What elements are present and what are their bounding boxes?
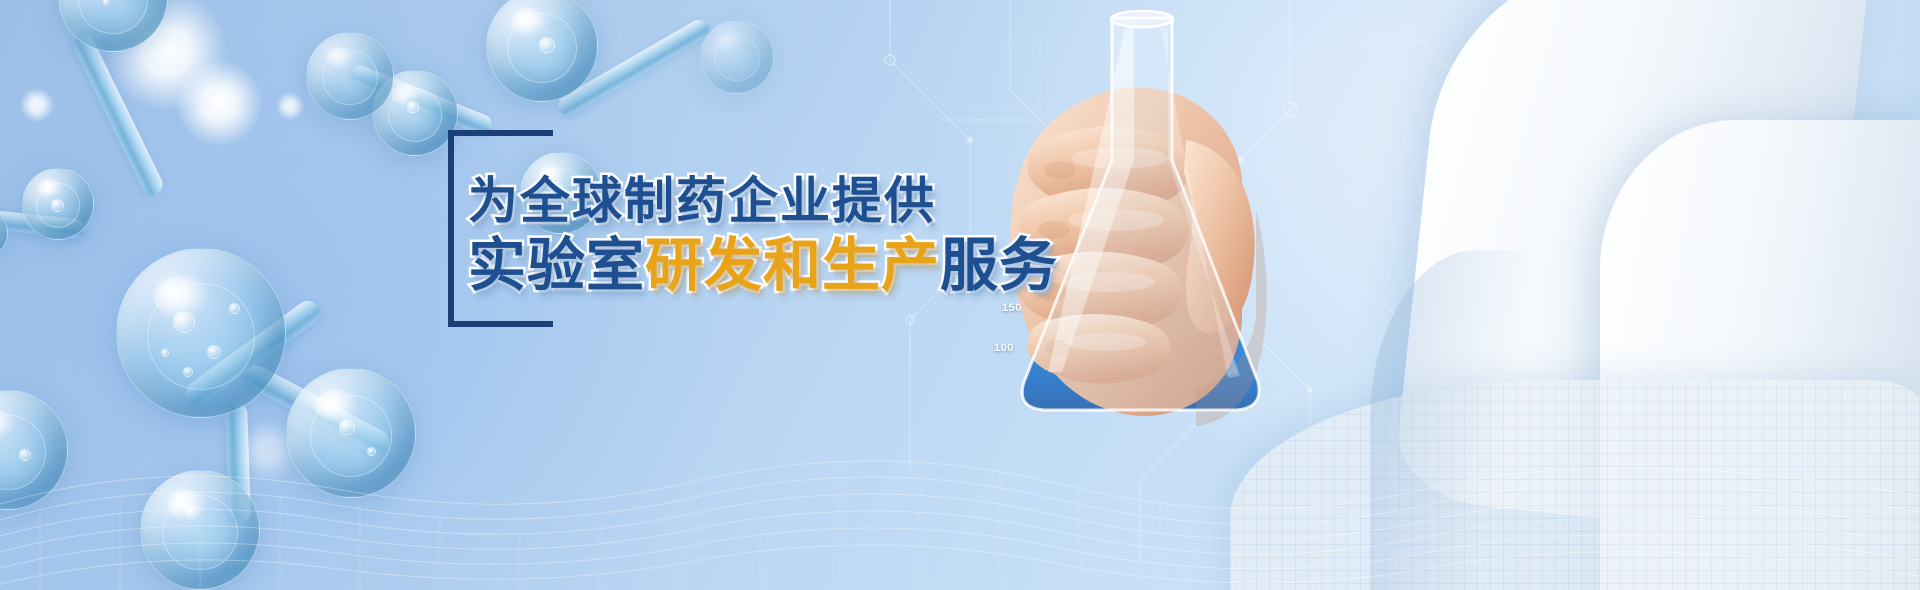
molecule-atom xyxy=(116,248,286,418)
light-glow-icon xyxy=(276,92,304,120)
lab-coat-shadow xyxy=(1370,250,1550,590)
hero-banner: 250 200 150 100 MAX xyxy=(0,0,1920,590)
molecule-atom xyxy=(0,390,68,510)
headline-line2-segment-2: 研发和生产 xyxy=(645,231,940,299)
molecule-bond xyxy=(71,32,167,198)
headline-line2-segment-1: 实验室 xyxy=(468,231,645,299)
headline-line2-segment-3: 服务 xyxy=(940,231,1058,299)
headline-line-2: 实验室研发和生产服务 xyxy=(468,236,1068,294)
headline-line-1: 为全球制药企业提供 xyxy=(468,176,1068,226)
molecule-atom xyxy=(286,368,416,498)
headline-line1-segment-1: 为全球制药企业提供 xyxy=(468,172,936,230)
light-glow-icon xyxy=(176,60,262,146)
headline-block: 为全球制药企业提供 实验室研发和生产服务 xyxy=(468,176,1068,294)
light-glow-icon xyxy=(20,88,54,122)
molecule-atom xyxy=(700,20,774,94)
molecule-atom xyxy=(306,32,394,120)
molecule-atom xyxy=(140,470,260,590)
molecule-atom xyxy=(22,168,94,240)
